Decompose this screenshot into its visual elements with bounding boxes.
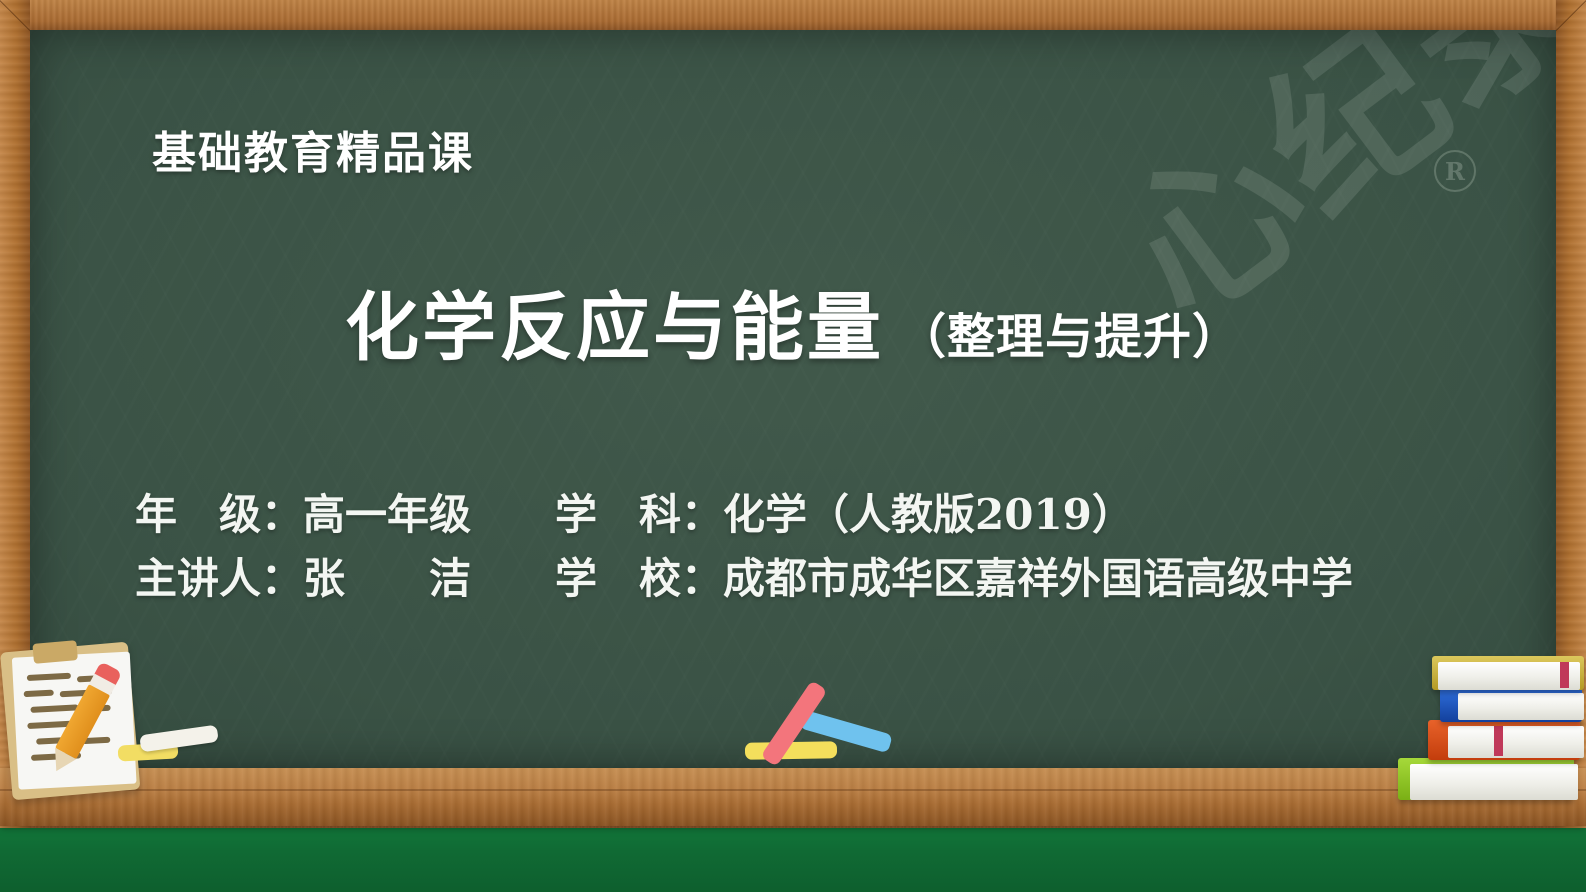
chalk-ledge — [0, 768, 1586, 826]
program-label: 基础教育精品课 — [152, 117, 474, 181]
meta-line-grade-subject: 年 级：高一年级 学 科：化学（人教版2019） — [135, 483, 1475, 547]
page-title: 化学反应与能量 — [345, 285, 884, 371]
slide-canvas: 心纪录 R 基础教育精品课 化学反应与能量（整理与提升） 年 级：高一年级 学 … — [0, 0, 1586, 892]
page-subtitle: （整理与提升） — [898, 309, 1241, 365]
background-wall — [0, 818, 1586, 892]
frame-right-rail — [1556, 0, 1586, 828]
title-block: 化学反应与能量（整理与提升） — [0, 268, 1586, 375]
meta-block: 年 级：高一年级 学 科：化学（人教版2019） 主讲人：张 洁 学 校：成都市… — [135, 483, 1475, 611]
frame-top-rail — [0, 0, 1586, 30]
frame-left-rail — [0, 0, 30, 828]
meta-line-teacher-school: 主讲人：张 洁 学 校：成都市成华区嘉祥外国语高级中学 — [135, 547, 1475, 611]
registered-trademark-icon: R — [1434, 150, 1476, 192]
